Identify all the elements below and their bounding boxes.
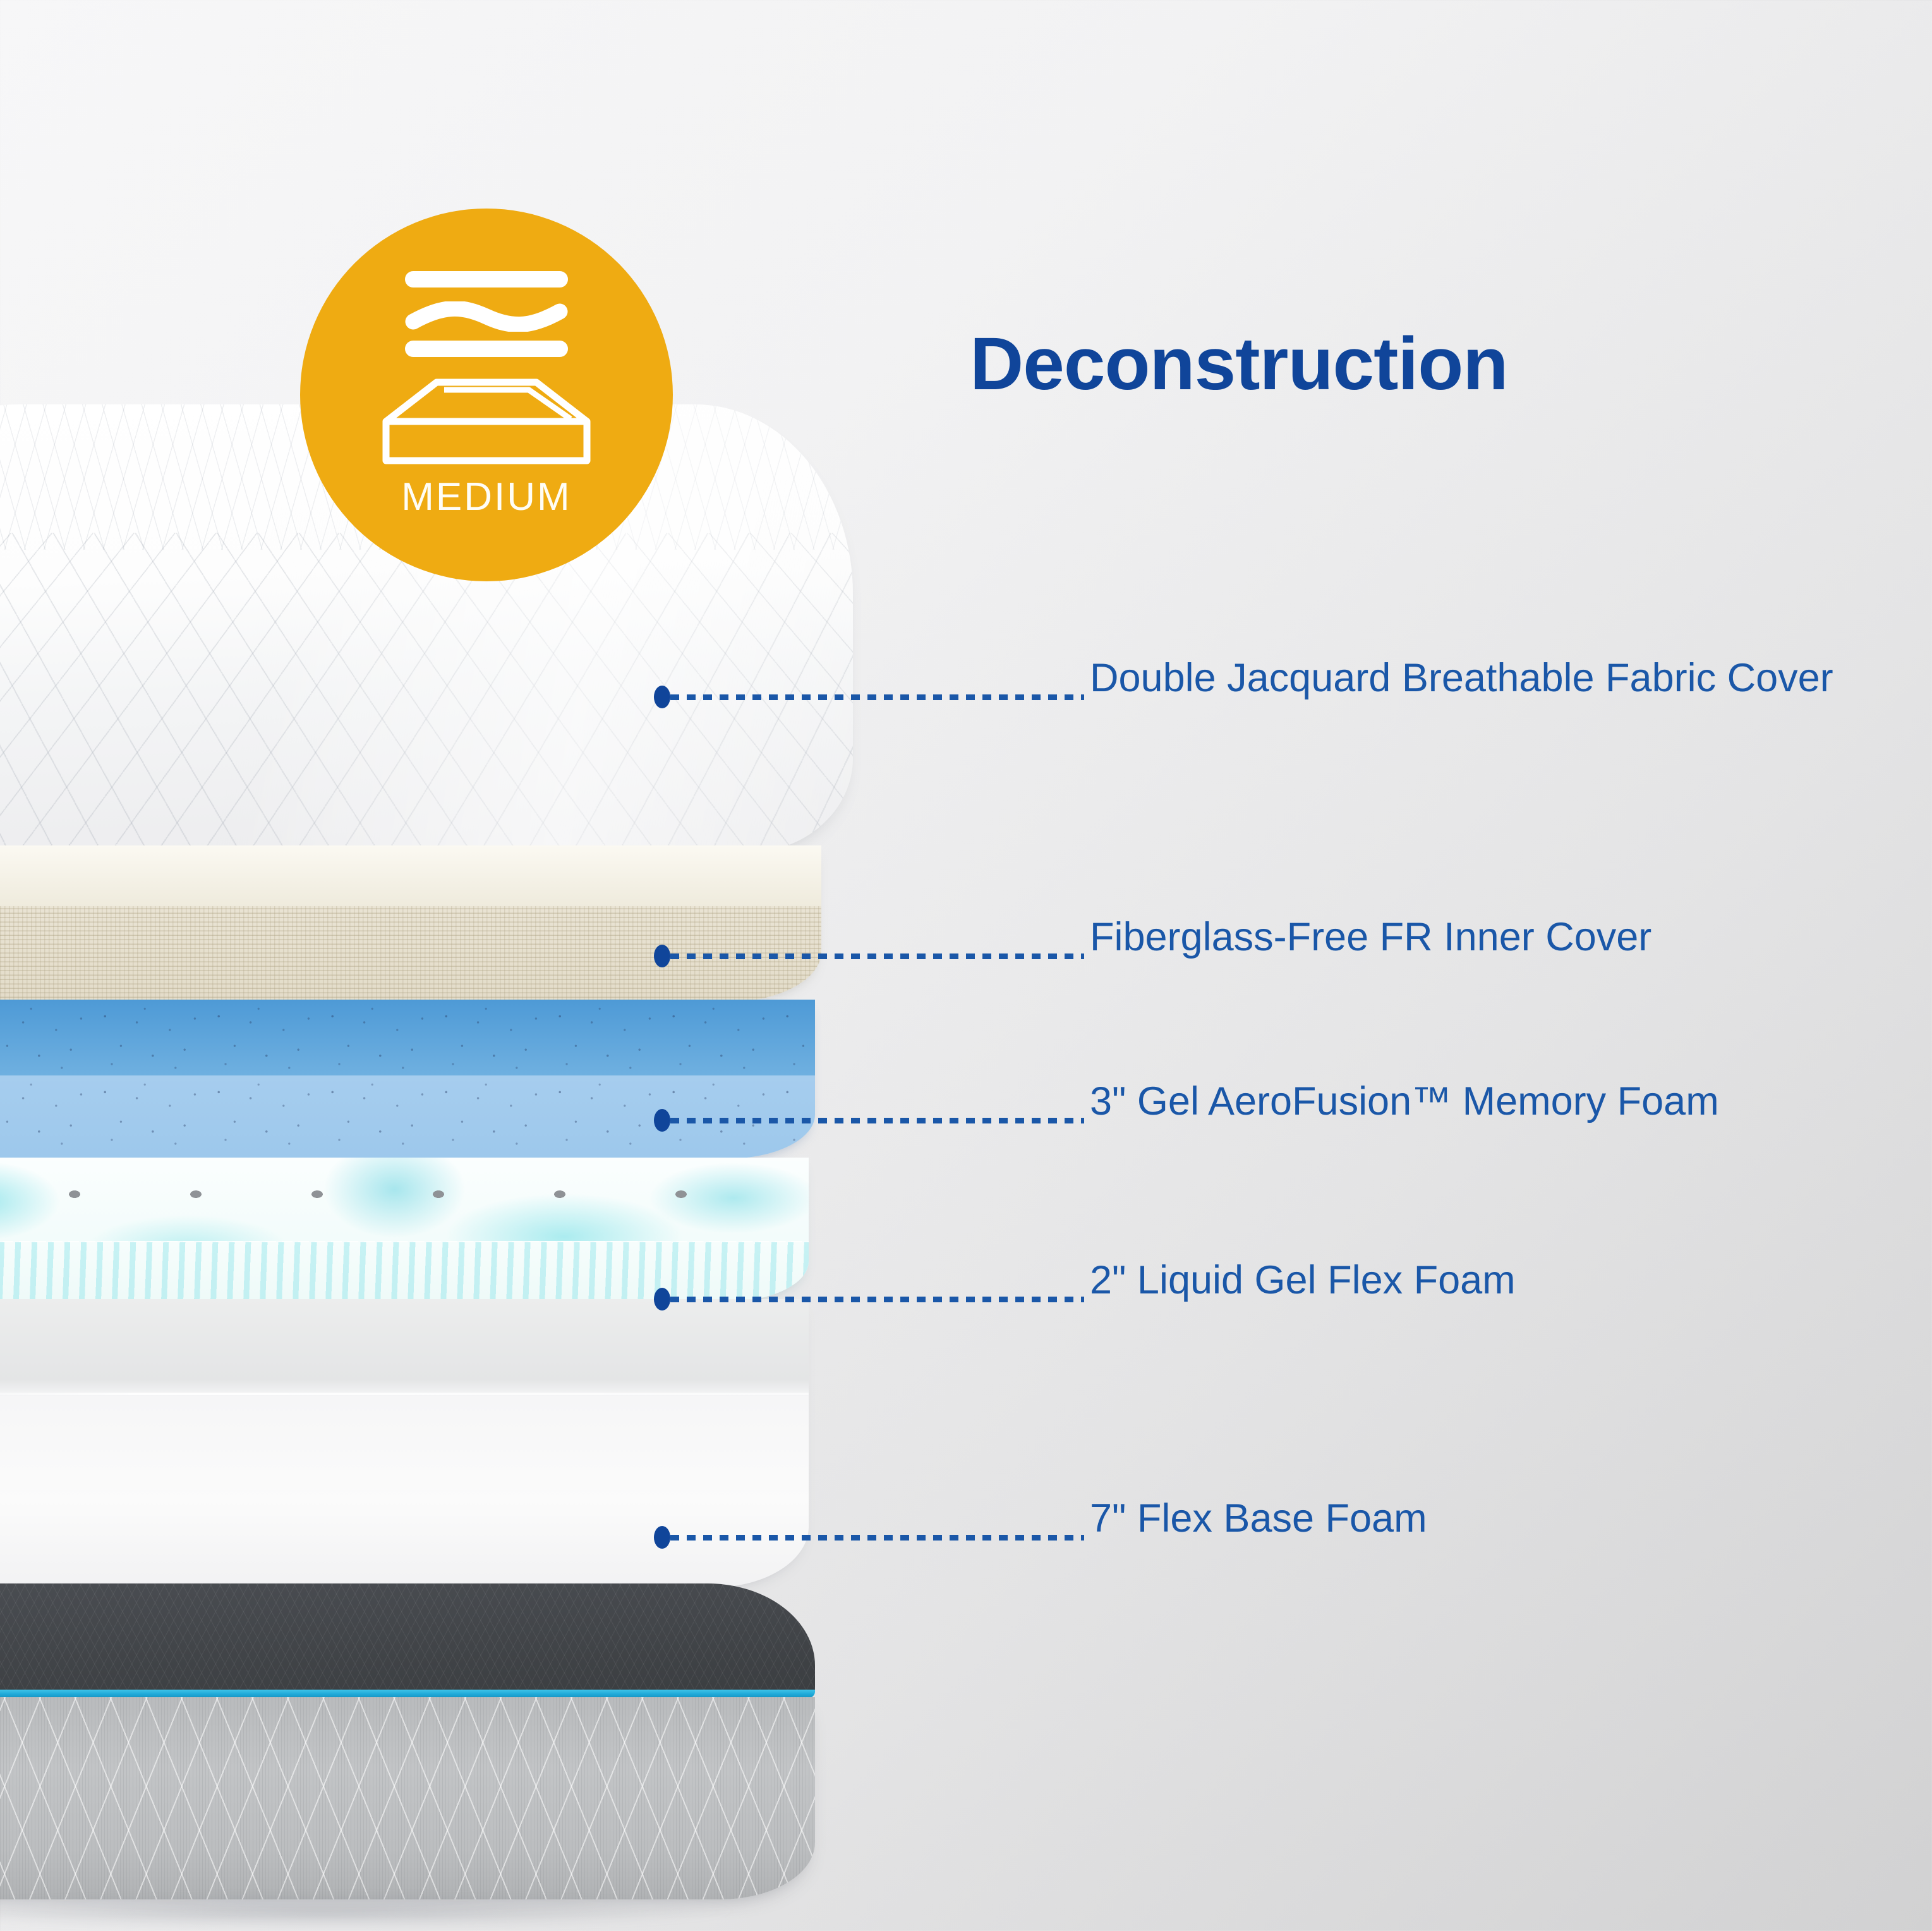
callout-dot bbox=[654, 1109, 670, 1132]
base-foam-surface bbox=[0, 1299, 809, 1587]
callout-label: 7" Flex Base Foam bbox=[1090, 1494, 1886, 1543]
base-foam-edge-highlight bbox=[0, 1393, 809, 1395]
firmness-bar-top bbox=[405, 271, 568, 288]
side-panel-diamond-pattern bbox=[0, 1697, 815, 1899]
ventilation-holes bbox=[0, 1163, 783, 1238]
memory-foam-surface bbox=[0, 1000, 815, 1159]
firmness-wave-line bbox=[405, 301, 568, 332]
layer-gel-aerofusion-memory-foam bbox=[0, 1000, 815, 1159]
callout-label: 3" Gel AeroFusion™ Memory Foam bbox=[1090, 1077, 1886, 1126]
page-title: Deconstruction bbox=[970, 325, 1873, 404]
fr-cover-surface bbox=[0, 845, 821, 1002]
gel-foam-front-edge bbox=[0, 1241, 809, 1302]
finished-mattress-top-panel bbox=[0, 1583, 815, 1692]
callout-leader-line bbox=[670, 1118, 1084, 1123]
fr-cover-top-face bbox=[0, 845, 821, 906]
finished-mattress-side-panel bbox=[0, 1697, 815, 1899]
firmness-bar-bottom bbox=[405, 341, 568, 357]
firmness-label: MEDIUM bbox=[401, 475, 571, 519]
layer-liquid-gel-flex-foam bbox=[0, 1158, 809, 1302]
callout-leader-line bbox=[670, 1535, 1084, 1541]
mattress-outline-icon bbox=[381, 377, 592, 466]
callout-label: Double Jacquard Breathable Fabric Cover bbox=[1090, 654, 1886, 703]
callout-leader-line bbox=[670, 694, 1084, 700]
callout-dot bbox=[654, 1526, 670, 1549]
callout-leader-line bbox=[670, 1297, 1084, 1302]
layer-finished-mattress bbox=[0, 1583, 815, 1931]
mattress-firmness-icon bbox=[376, 262, 597, 471]
callout-dot bbox=[654, 1288, 670, 1311]
memory-foam-speckles bbox=[0, 1000, 815, 1159]
firmness-badge[interactable]: MEDIUM bbox=[300, 209, 673, 581]
callout-label: 2" Liquid Gel Flex Foam bbox=[1090, 1256, 1886, 1305]
layer-flex-base-foam bbox=[0, 1299, 809, 1587]
callout-label: Fiberglass-Free FR Inner Cover bbox=[1090, 913, 1886, 962]
callout-leader-line bbox=[670, 953, 1084, 959]
callout-dot bbox=[654, 686, 670, 708]
layer-fr-inner-cover bbox=[0, 845, 821, 1002]
callout-dot bbox=[654, 945, 670, 967]
gel-foam-surface bbox=[0, 1158, 809, 1302]
ground-shadow bbox=[0, 1894, 733, 1928]
